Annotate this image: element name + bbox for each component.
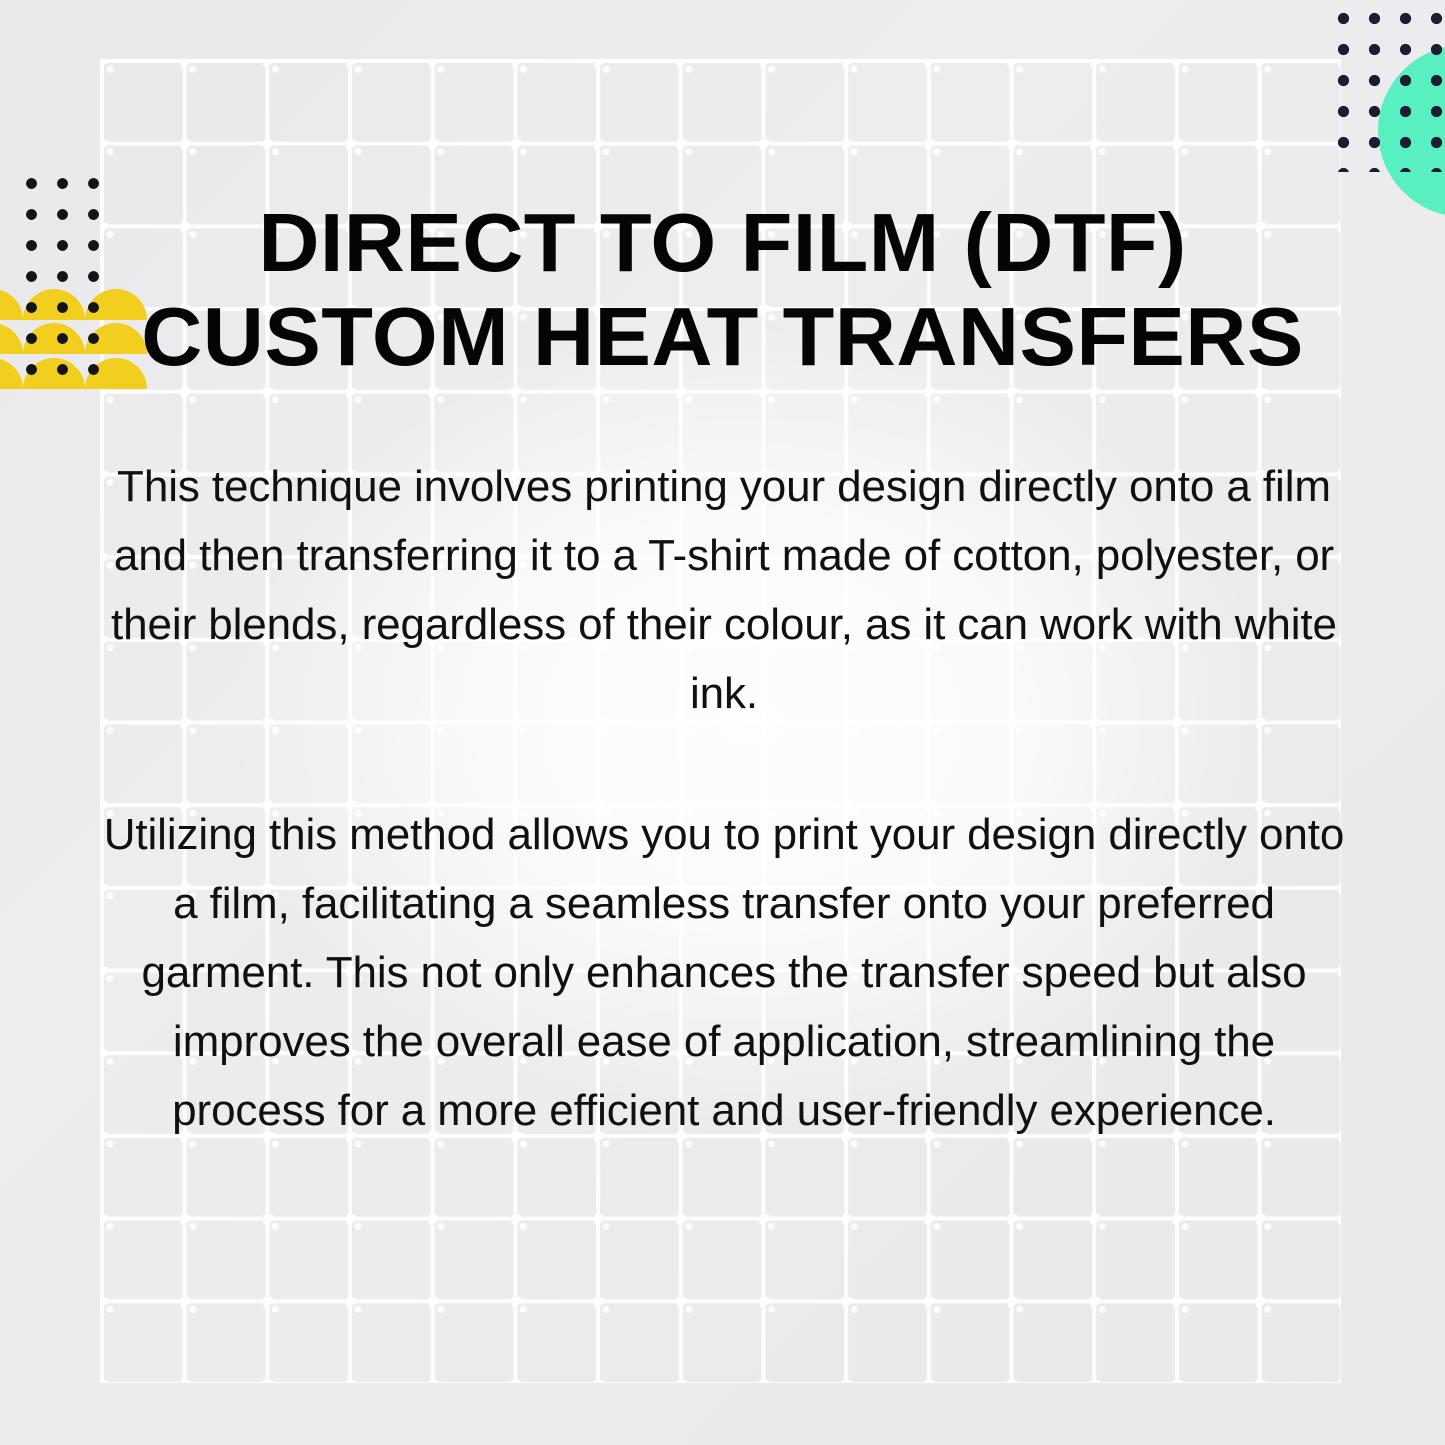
- page-title-line-1: DIRECT TO FILM (DTF): [0, 196, 1445, 290]
- circle-icon-teal: [1378, 45, 1445, 217]
- body-paragraph-1: This technique involves printing your de…: [96, 452, 1352, 728]
- body-copy: This technique involves printing your de…: [96, 452, 1352, 1145]
- poster-canvas: DIRECT TO FILM (DTF) CUSTOM HEAT TRANSFE…: [0, 0, 1445, 1445]
- page-title: DIRECT TO FILM (DTF) CUSTOM HEAT TRANSFE…: [0, 196, 1445, 384]
- body-paragraph-2: Utilizing this method allows you to prin…: [96, 800, 1352, 1145]
- page-title-line-2: CUSTOM HEAT TRANSFERS: [0, 290, 1445, 384]
- dot-matrix-icon-right: [1322, 0, 1445, 172]
